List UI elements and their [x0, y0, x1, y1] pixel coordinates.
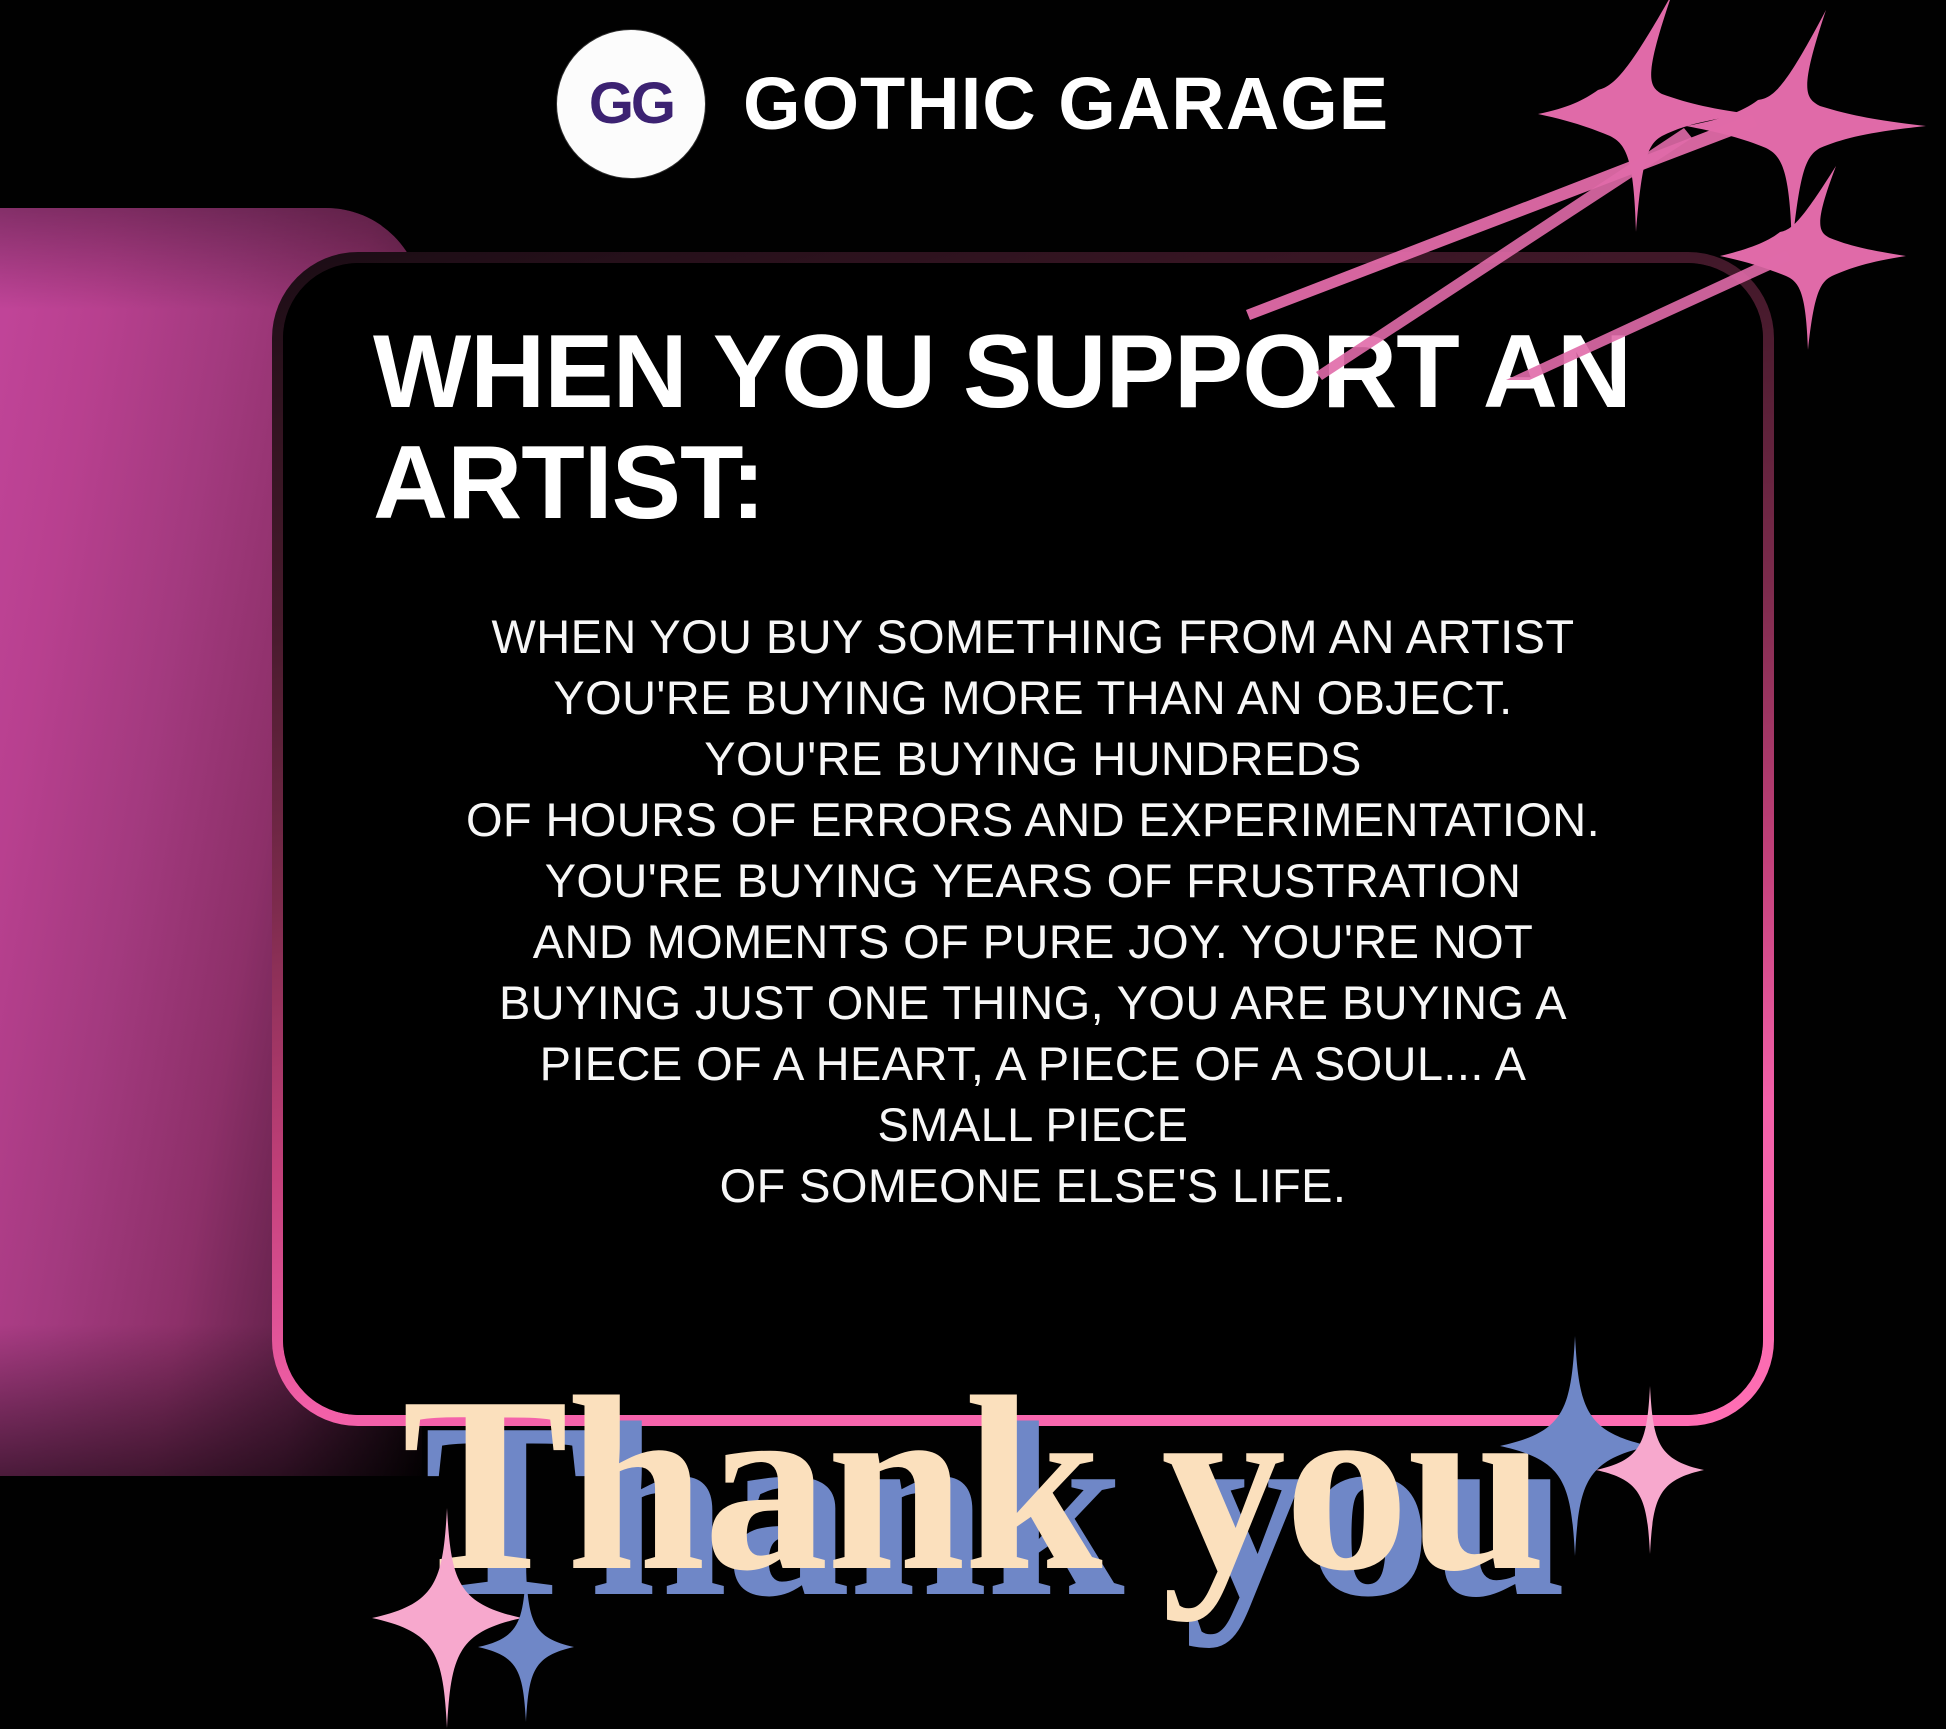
- headline: WHEN YOU SUPPORT AN ARTIST:: [373, 317, 1693, 540]
- brand-header: GG GOTHIC GARAGE: [0, 0, 1946, 208]
- footer-sparkle-blue-small-icon: [478, 1572, 574, 1722]
- body-copy: WHEN YOU BUY SOMETHING FROM AN ARTIST YO…: [373, 540, 1693, 1217]
- brand-name: GOTHIC GARAGE: [743, 67, 1389, 141]
- card-content: WHEN YOU SUPPORT AN ARTIST: WHEN YOU BUY…: [283, 263, 1763, 1415]
- brand-logo-badge: GG: [557, 30, 705, 178]
- brand-logo-initials: GG: [589, 75, 673, 133]
- poster-canvas: GG GOTHIC GARAGE WHEN YOU SUPPORT AN ART…: [0, 0, 1946, 1729]
- footer-sparkle-pink-icon: [372, 1508, 522, 1728]
